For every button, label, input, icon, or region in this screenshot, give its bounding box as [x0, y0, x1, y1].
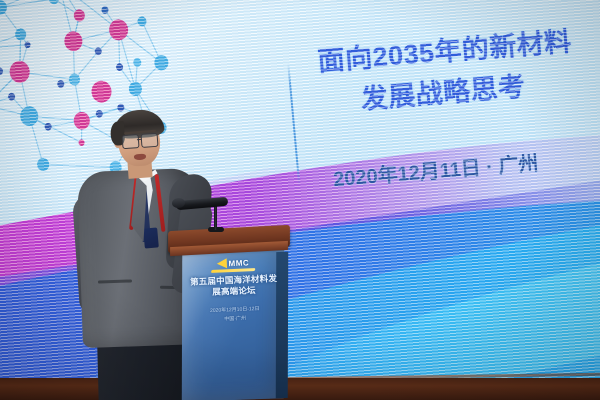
podium-forum-title: 第五届中国海洋材料发展高端论坛	[187, 273, 280, 299]
logo-text: MMC	[228, 258, 249, 268]
network-edge	[0, 45, 28, 49]
logo-underbar	[211, 268, 256, 273]
network-node	[37, 157, 50, 171]
network-node	[48, 0, 59, 5]
network-node	[0, 0, 7, 15]
conference-photo: 面向2035年的新材料 发展战略思考 2020年12月11日 · 广州	[0, 0, 600, 400]
glasses-icon	[122, 133, 159, 148]
network-node	[57, 80, 65, 88]
network-node	[91, 80, 113, 103]
network-node	[64, 31, 84, 52]
network-node	[73, 9, 85, 22]
network-node	[15, 28, 27, 41]
network-node	[0, 67, 3, 75]
podium: MMC 第五届中国海洋材料发展高端论坛 2020年12月10日-12日 中国·广…	[168, 228, 290, 400]
network-node	[137, 16, 147, 27]
speaker-badge	[143, 227, 159, 248]
slide-text-block: 面向2035年的新材料 发展战略思考 2020年12月11日 · 广州	[316, 19, 600, 193]
microphone-stem	[214, 204, 217, 230]
podium-signage: MMC 第五届中国海洋材料发展高端论坛 2020年12月10日-12日 中国·广…	[187, 256, 282, 325]
logo-swoosh-icon	[216, 258, 226, 268]
network-node	[133, 58, 142, 67]
